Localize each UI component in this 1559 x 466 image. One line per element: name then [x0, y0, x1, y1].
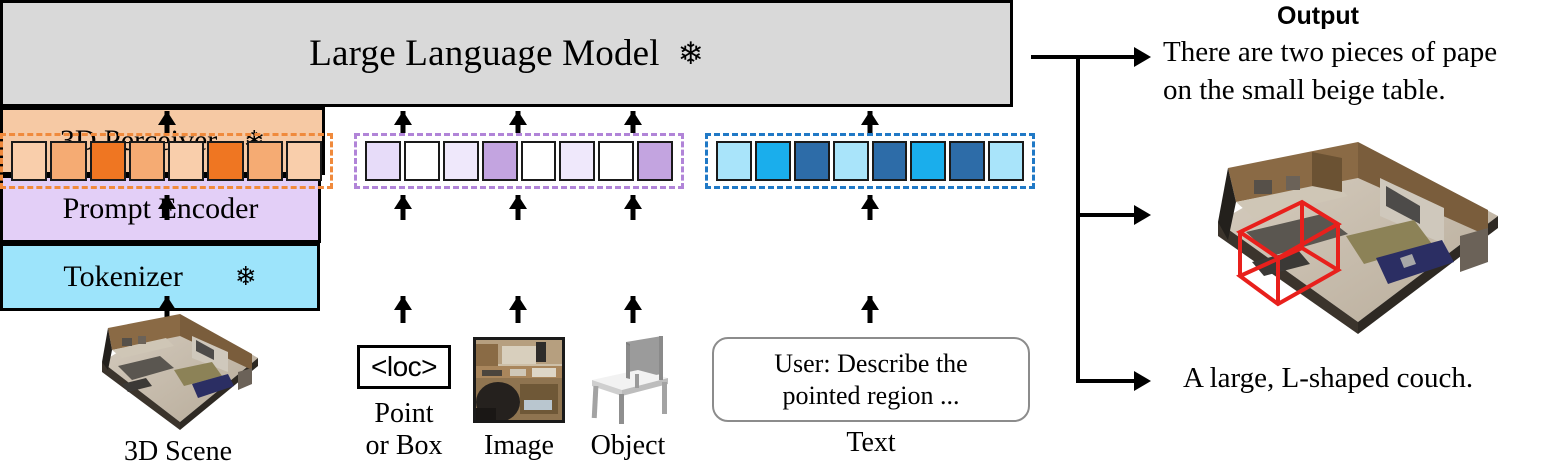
output-answer-1-line1: There are two pieces of pape [1163, 36, 1497, 68]
3d-scene-thumbnail [88, 310, 268, 434]
token [129, 141, 165, 181]
output-answer-2: A large, L-shaped couch. [1183, 362, 1559, 395]
token [755, 141, 791, 181]
output-arrowhead-1 [1134, 47, 1151, 67]
image-thumbnail [473, 337, 565, 423]
text-caption: Text [801, 427, 941, 458]
token [50, 141, 86, 181]
output-branch-2 [1076, 213, 1136, 217]
output-trunk-vertical [1076, 55, 1080, 383]
token [365, 141, 401, 181]
token [598, 141, 634, 181]
snowflake-icon: ❄ [678, 38, 704, 69]
prompt-token-strip [354, 133, 684, 189]
point-or-box-caption-line1: Point [334, 398, 474, 429]
token [716, 141, 752, 181]
snowflake-icon: ❄ [235, 264, 257, 290]
token [404, 141, 440, 181]
token [90, 141, 126, 181]
architecture-diagram: Large Language Model ❄ [0, 0, 1559, 466]
token [872, 141, 908, 181]
token [559, 141, 595, 181]
object-thumbnail [580, 334, 676, 426]
token [286, 141, 322, 181]
token [443, 141, 479, 181]
token [11, 141, 47, 181]
output-answer-1: There are two pieces of pape on the smal… [1163, 33, 1559, 110]
token [521, 141, 557, 181]
text-token-strip [705, 133, 1035, 189]
output-branch-1 [1076, 55, 1136, 59]
llm-label: Large Language Model [309, 32, 660, 75]
token [207, 141, 243, 181]
output-title: Output [1168, 2, 1468, 31]
3d-scene-caption: 3D Scene [78, 436, 278, 466]
token [949, 141, 985, 181]
output-branch-3 [1076, 379, 1136, 383]
text-prompt-bubble[interactable]: User: Describe the pointed region ... [712, 337, 1030, 422]
token [833, 141, 869, 181]
output-3d-scene-thumbnail [1192, 136, 1518, 342]
object-caption: Object [558, 430, 698, 461]
token [637, 141, 673, 181]
token [988, 141, 1024, 181]
loc-token-box: <loc> [357, 345, 451, 389]
token [247, 141, 283, 181]
output-trunk-horizontal [1031, 55, 1080, 59]
text-prompt-line2: pointed region ... [783, 381, 960, 410]
token [168, 141, 204, 181]
token [910, 141, 946, 181]
text-prompt-line1: User: Describe the [774, 349, 967, 378]
output-answer-1-line2: on the small beige table. [1163, 74, 1446, 106]
output-arrowhead-2 [1134, 205, 1151, 225]
large-language-model-block: Large Language Model ❄ [0, 0, 1013, 107]
output-arrowhead-3 [1134, 371, 1151, 391]
tokenizer-label: Tokenizer [63, 260, 183, 294]
loc-token-text: <loc> [371, 351, 437, 383]
token [482, 141, 518, 181]
scene-token-strip [0, 133, 333, 189]
token [794, 141, 830, 181]
